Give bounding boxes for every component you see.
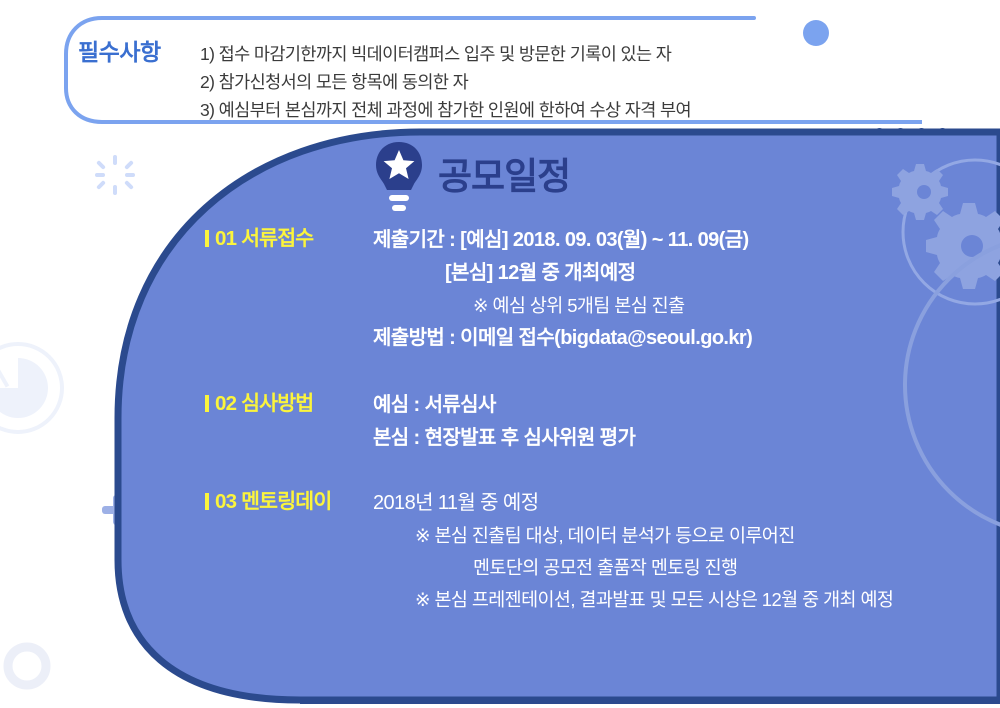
schedule-line: ※ 본심 프레젠테이션, 결과발표 및 모든 시상은 12월 중 개최 예정 [373,584,1000,616]
requirements-list: 1) 접수 마감기한까지 빅데이터캠퍼스 입주 및 방문한 기록이 있는 자 2… [200,14,922,124]
schedule-line: 본심 : 현장발표 후 심사위원 평가 [373,422,1000,455]
schedule-row-02: 02 심사방법 예심 : 서류심사 본심 : 현장발표 후 심사위원 평가 [0,389,1000,455]
section-title: 공모일정 [438,158,570,199]
label-bar-icon [205,395,209,412]
schedule-body-03: 2018년 11월 중 예정 ※ 본심 진출팀 대상, 데이터 분석가 등으로 … [373,487,1000,616]
requirement-item-2: 2) 참가신청서의 모든 항목에 동의한 자 [200,68,922,96]
requirements-bubble: 필수사항 1) 접수 마감기한까지 빅데이터캠퍼스 입주 및 방문한 기록이 있… [62,14,922,126]
lightbulb-star-icon [374,140,424,216]
schedule-number-02: 02 [215,392,236,415]
schedule-line: ※ 본심 진출팀 대상, 데이터 분석가 등으로 이루어진 [373,520,1000,552]
requirement-item-3: 3) 예심부터 본심까지 전체 과정에 참가한 인원에 한하여 수상 자격 부여 [200,96,922,124]
schedule-label-03: 03 멘토링데이 [0,487,373,517]
section-title-row: 공모일정 [374,140,570,216]
schedule-row-01: 01 서류접수 제출기간 : [예심] 2018. 09. 03(월) ~ 11… [0,224,1000,355]
requirement-item-1: 1) 접수 마감기한까지 빅데이터캠퍼스 입주 및 방문한 기록이 있는 자 [200,40,922,68]
schedule-line: 2018년 11월 중 예정 [373,487,1000,520]
schedule-name-03: 멘토링데이 [241,490,331,513]
label-bar-icon [205,230,209,247]
poster-root: 필수사항 1) 접수 마감기한까지 빅데이터캠퍼스 입주 및 방문한 기록이 있… [0,0,1000,708]
schedule-line: 예심 : 서류심사 [373,389,1000,422]
schedule-line: [본심] 12월 중 개최예정 [373,257,1000,290]
schedule-name-01: 서류접수 [241,227,313,250]
schedule-number-01: 01 [215,227,236,250]
schedule-name-02: 심사방법 [241,392,313,415]
schedule-body-02: 예심 : 서류심사 본심 : 현장발표 후 심사위원 평가 [373,389,1000,455]
label-bar-icon [205,493,209,510]
requirements-label: 필수사항 [62,14,200,64]
schedule-label-02: 02 심사방법 [0,389,373,419]
schedule-number-03: 03 [215,490,236,513]
schedule-line: 제출기간 : [예심] 2018. 09. 03(월) ~ 11. 09(금) [373,224,1000,257]
schedule-row-03: 03 멘토링데이 2018년 11월 중 예정 ※ 본심 진출팀 대상, 데이터… [0,487,1000,616]
schedule-line: 멘토단의 공모전 출품작 멘토링 진행 [373,552,1000,584]
schedule-list: 01 서류접수 제출기간 : [예심] 2018. 09. 03(월) ~ 11… [0,224,1000,616]
schedule-body-01: 제출기간 : [예심] 2018. 09. 03(월) ~ 11. 09(금) … [373,224,1000,355]
schedule-line: ※ 예심 상위 5개팀 본심 진출 [373,290,1000,322]
schedule-line: 제출방법 : 이메일 접수(bigdata@seoul.go.kr) [373,322,1000,355]
schedule-label-01: 01 서류접수 [0,224,373,254]
